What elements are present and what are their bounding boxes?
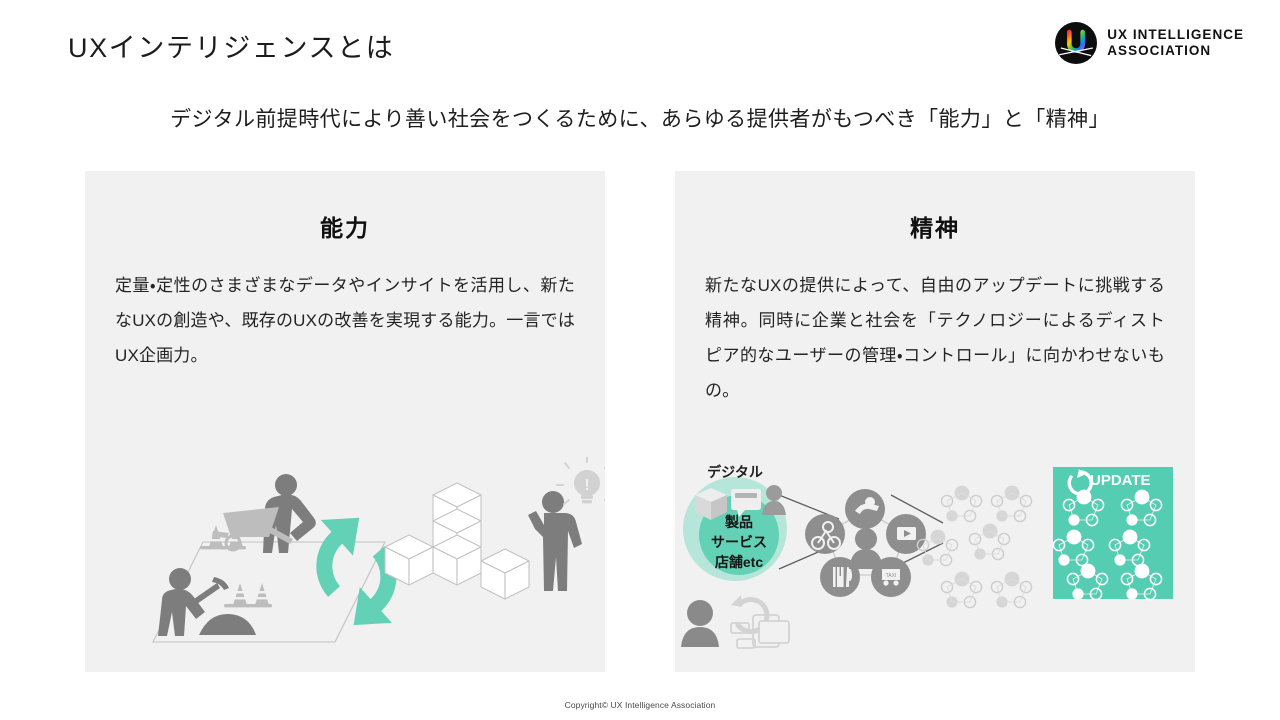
card-capability: 能力 定量・定性のさまざまなデータやインサイトを活用し、新たなUXの創造や、既存…	[85, 171, 605, 672]
label-store: 店舗etc	[715, 554, 763, 570]
brand-logo: UX INTELLIGENCE ASSOCIATION	[1055, 22, 1244, 64]
card-spirit-title: 精神	[699, 209, 1171, 243]
card-capability-body: 定量・定性のさまざまなデータやインサイトを活用し、新たなUXの創造や、既存のUX…	[109, 269, 581, 374]
card-spirit: 精神 新たなUXの提供によって、自由のアップデートに挑戦する精神。同時に企業と社…	[675, 171, 1195, 672]
spirit-illustration: デジタル 製品 サービス 店舗etc	[675, 457, 1195, 672]
card-capability-title: 能力	[109, 209, 581, 243]
copyright-footer: Copyright© UX Intelligence Association	[0, 700, 1280, 710]
slide-subtitle: デジタル前提時代により善い社会をつくるために、あらゆる提供者がもつべき「能力」と…	[0, 103, 1280, 133]
label-update: UPDATE	[1090, 472, 1151, 489]
lightbulb-idea-icon: !	[557, 457, 605, 504]
card-spirit-body: 新たなUXの提供によって、自由のアップデートに挑戦する精神。同時に企業と社会を「…	[699, 269, 1171, 408]
brand-logo-line2: ASSOCIATION	[1107, 43, 1244, 59]
capability-illustration: !	[85, 457, 605, 672]
svg-text:TAXI: TAXI	[886, 573, 897, 579]
brand-logo-text: UX INTELLIGENCE ASSOCIATION	[1107, 27, 1244, 59]
label-service: サービス	[711, 534, 767, 550]
brand-logo-line1: UX INTELLIGENCE	[1107, 27, 1244, 43]
label-product: 製品	[724, 514, 753, 530]
device-icon	[731, 615, 789, 648]
label-digital: デジタル	[707, 464, 763, 480]
page-title: UXインテリジェンスとは	[68, 26, 394, 65]
slide-root: UXインテリジェンスとは UX INTE	[0, 0, 1280, 720]
user-avatar-icon	[681, 600, 719, 647]
svg-text:!: !	[584, 477, 589, 494]
ux-intelligence-association-logo-icon	[1055, 22, 1097, 64]
cards-container: 能力 定量・定性のさまざまなデータやインサイトを活用し、新たなUXの創造や、既存…	[85, 171, 1195, 672]
